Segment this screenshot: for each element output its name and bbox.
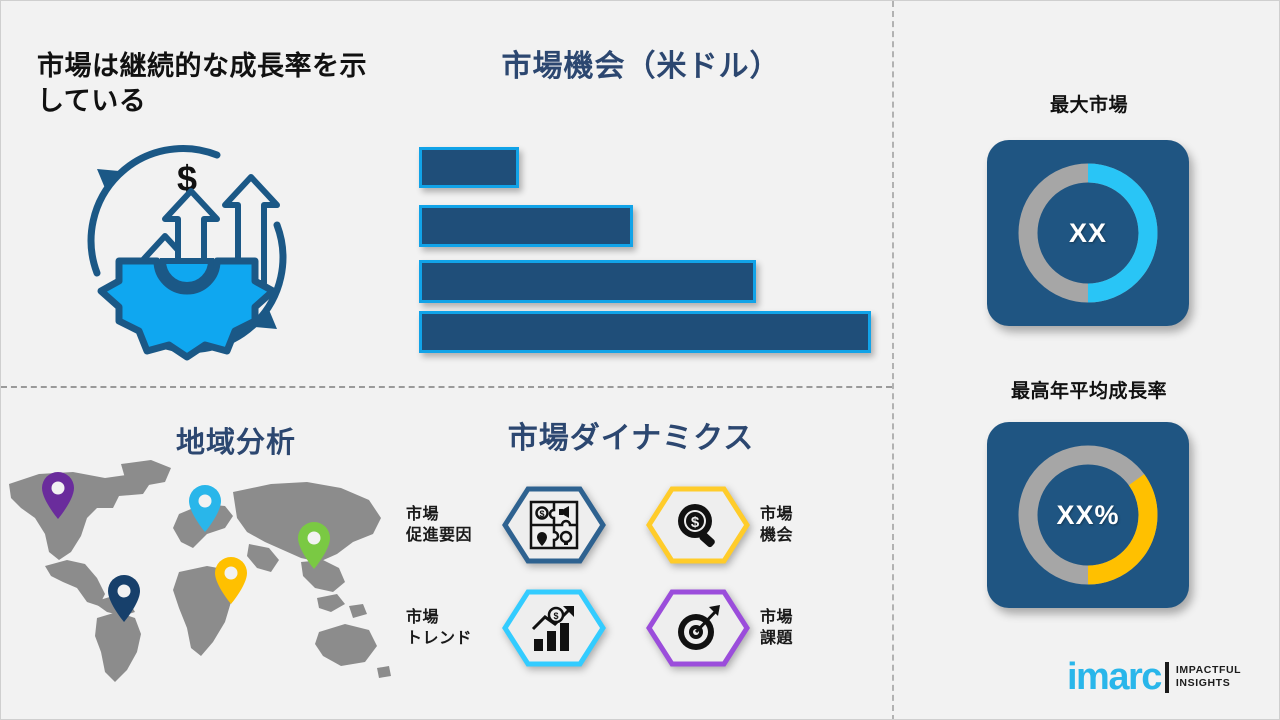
logo-divider: [1165, 662, 1169, 693]
logo-tagline-line-2: INSIGHTS: [1176, 677, 1241, 690]
svg-text:$: $: [539, 509, 544, 519]
gear-growth-arrows-icon: $: [67, 133, 307, 365]
largest-market-value: XX: [1069, 218, 1107, 249]
label-line-2: 課題: [760, 628, 856, 649]
dynamics-item-label: 市場 課題: [760, 607, 856, 649]
highest-cagr-card: XX%: [987, 422, 1189, 608]
logo-tagline: IMPACTFUL INSIGHTS: [1176, 664, 1241, 690]
highest-cagr-value: XX%: [1056, 500, 1119, 531]
target-arrow-icon: [646, 588, 750, 668]
growth-panel-title: 市場は継続的な成長率を示している: [37, 49, 387, 118]
hexagon-frame: $: [502, 485, 606, 565]
world-map: [1, 456, 401, 688]
label-line-1: 市場: [406, 504, 502, 525]
dynamics-panel-title: 市場ダイナミクス: [401, 421, 861, 457]
label-line-2: 機会: [760, 525, 856, 546]
bar-segment: [419, 260, 756, 303]
magnifier-dollar-icon: $: [646, 485, 750, 565]
largest-market-card: XX: [987, 140, 1189, 326]
horizontal-divider: [1, 386, 892, 388]
dynamics-item-label: 市場 トレンド: [406, 607, 502, 649]
label-line-1: 市場: [406, 607, 502, 628]
largest-market-title: 最大市場: [961, 94, 1217, 118]
vertical-divider: [892, 1, 894, 720]
label-line-1: 市場: [760, 504, 856, 525]
dynamics-item-drivers[interactable]: 市場 促進要因 $: [406, 484, 616, 566]
bar-segment: [419, 147, 519, 188]
bar-segment: [419, 205, 633, 247]
label-line-1: 市場: [760, 607, 856, 628]
bar-row: [419, 147, 519, 188]
slide-canvas: 市場は継続的な成長率を示している $ 市場機: [0, 0, 1280, 720]
opportunity-panel-title: 市場機会（米ドル）: [401, 49, 881, 85]
dynamics-item-opportunities[interactable]: $ 市場 機会: [646, 484, 856, 566]
growth-bar-chart-icon: $: [502, 588, 606, 668]
bar-row: [419, 205, 633, 247]
logo-tagline-line-1: IMPACTFUL: [1176, 664, 1241, 677]
dynamics-item-challenges[interactable]: 市場 課題: [646, 587, 856, 669]
hexagon-frame: $: [502, 588, 606, 668]
dynamics-item-trends[interactable]: 市場 トレンド $: [406, 587, 616, 669]
dynamics-item-label: 市場 機会: [760, 504, 856, 546]
dynamics-grid: 市場 促進要因 $: [406, 484, 846, 674]
svg-text:$: $: [691, 514, 700, 531]
bar-row: [419, 311, 871, 353]
highest-cagr-title: 最高年平均成長率: [951, 380, 1227, 404]
label-line-2: 促進要因: [406, 525, 502, 546]
hexagon-frame: $: [646, 485, 750, 565]
imarc-logo: imarc IMPACTFUL INSIGHTS: [1067, 660, 1241, 694]
dynamics-item-label: 市場 促進要因: [406, 504, 502, 546]
label-line-2: トレンド: [406, 628, 502, 649]
logo-wordmark: imarc: [1067, 660, 1161, 694]
svg-text:$: $: [553, 611, 558, 621]
bar-row: [419, 260, 756, 303]
opportunity-bar-chart: [419, 147, 879, 352]
puzzle-pieces-icon: $: [502, 485, 606, 565]
hexagon-frame: [646, 588, 750, 668]
bar-segment: [419, 311, 871, 353]
